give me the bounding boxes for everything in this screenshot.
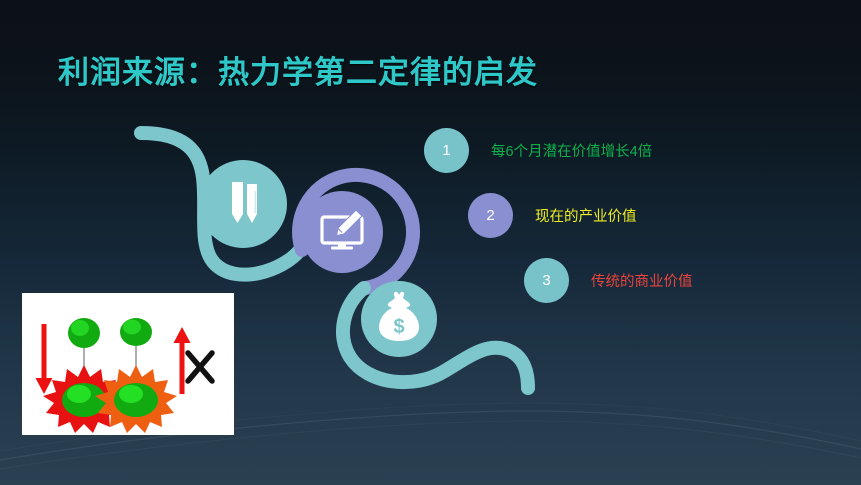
green-ball-upper-right: [120, 318, 152, 346]
legend-item-2[interactable]: 2 现在的产业价值: [468, 193, 637, 238]
page-title: 利润来源：热力学第二定律的启发: [58, 47, 538, 92]
legend-badge-3: 3: [524, 258, 569, 303]
flow-path-teal-right: [343, 288, 528, 388]
svg-text:$: $: [393, 316, 404, 338]
legend-label-1: 每6个月潜在价值增长4倍: [491, 140, 652, 161]
green-ball-upper-left: [68, 318, 100, 348]
slide-canvas: 利润来源：热力学第二定律的启发: [0, 0, 861, 485]
legend-badge-1: 1: [424, 128, 469, 173]
flow-path-teal-left: [141, 133, 300, 275]
flow-node-money: $: [361, 281, 437, 357]
legend-label-2: 现在的产业价值: [535, 205, 637, 226]
legend-label-3: 传统的商业价值: [591, 270, 693, 291]
monitor-pen-icon: [322, 210, 362, 250]
legend-item-3[interactable]: 3 传统的商业价值: [524, 258, 693, 303]
flow-path-purple-ring: [299, 175, 413, 288]
pencils-icon: [232, 182, 257, 223]
flow-node-pencils: [199, 160, 287, 248]
flow-node-monitor: [301, 191, 383, 273]
money-bag-icon: $: [379, 292, 419, 341]
legend-item-1[interactable]: 1 每6个月潜在价值增长4倍: [424, 128, 652, 173]
legend-badge-2: 2: [468, 193, 513, 238]
thermodynamics-illustration: [22, 293, 234, 435]
